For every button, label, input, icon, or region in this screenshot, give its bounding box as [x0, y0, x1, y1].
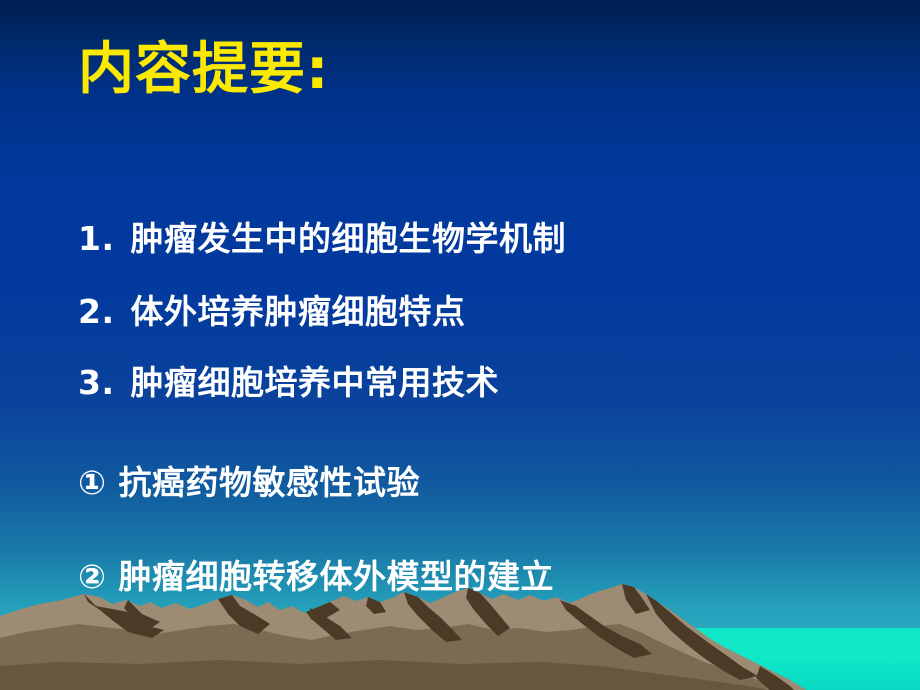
- sub-list-item: ② 肿瘤细胞转移体外模型的建立: [78, 560, 554, 593]
- sub-list-item-marker: ①: [78, 463, 106, 502]
- list-item-label: 肿瘤发生中的细胞生物学机制: [131, 219, 567, 258]
- presentation-slide: 内容提要: 1. 肿瘤发生中的细胞生物学机制 2. 体外培养肿瘤细胞特点 3. …: [0, 0, 920, 690]
- list-item-index: 1.: [78, 222, 115, 255]
- sub-list-item-label: 抗癌药物敏感性试验: [118, 463, 420, 502]
- list-item-label: 体外培养肿瘤细胞特点: [131, 292, 466, 331]
- list-item-label: 肿瘤细胞培养中常用技术: [131, 363, 500, 402]
- list-item-index: 2.: [78, 295, 115, 328]
- list-item: 2. 体外培养肿瘤细胞特点: [78, 295, 466, 328]
- slide-title: 内容提要:: [78, 38, 329, 102]
- mountain-range-icon: [0, 580, 920, 690]
- list-item: 1. 肿瘤发生中的细胞生物学机制: [78, 222, 566, 255]
- sub-list-item-label: 肿瘤细胞转移体外模型的建立: [118, 557, 554, 596]
- sub-list-item: ① 抗癌药物敏感性试验: [78, 466, 420, 499]
- sub-list-item-marker: ②: [78, 557, 106, 596]
- list-item-index: 3.: [78, 366, 115, 399]
- list-item: 3. 肿瘤细胞培养中常用技术: [78, 366, 499, 399]
